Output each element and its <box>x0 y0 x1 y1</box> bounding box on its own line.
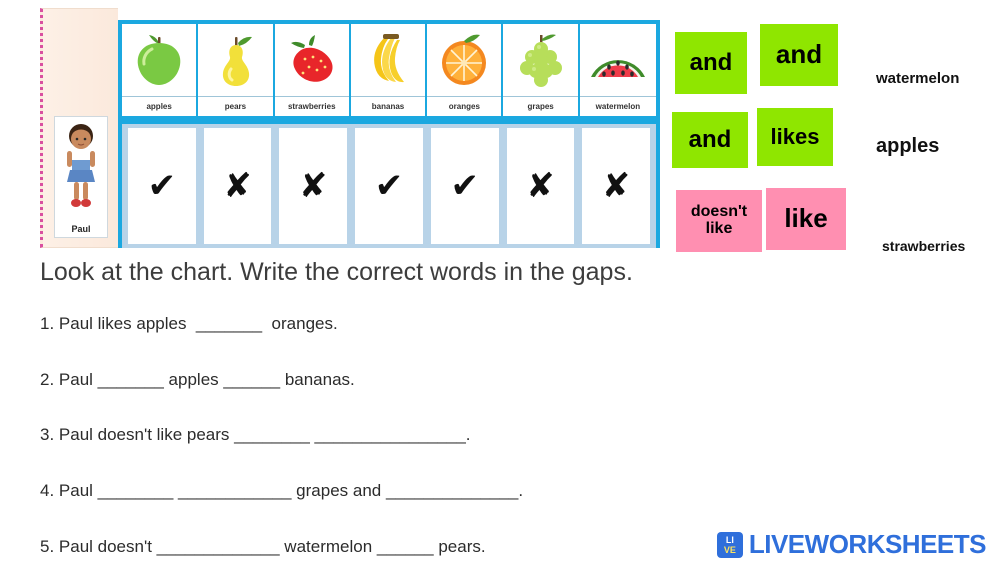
word-tile-and-1[interactable]: and <box>675 32 747 94</box>
word-tile-likes[interactable]: likes <box>757 108 833 166</box>
fruit-cell-pears: pears <box>198 24 274 116</box>
badge-top-text: LI <box>726 535 734 545</box>
fruit-cell-watermelon: watermelon <box>580 24 656 116</box>
word-tile-and-3[interactable]: and <box>672 112 748 168</box>
fruit-cell-apples: apples <box>122 24 198 116</box>
fruit-chart: Paul apples <box>40 8 660 248</box>
fruit-label: watermelon <box>580 96 656 116</box>
instruction-text: Look at the chart. Write the correct wor… <box>40 258 633 287</box>
fruit-cell-strawberries: strawberries <box>275 24 351 116</box>
apple-icon <box>122 24 196 96</box>
sentence-5: 5. Paul doesn't _____________ watermelon… <box>40 537 486 557</box>
fruit-label: strawberries <box>275 96 349 116</box>
word-tile-like[interactable]: like <box>766 188 846 250</box>
word-watermelon[interactable]: watermelon <box>876 70 959 87</box>
fruit-label: pears <box>198 96 272 116</box>
sentence-2: 2. Paul _______ apples ______ bananas. <box>40 370 355 390</box>
fruit-label: bananas <box>351 96 425 116</box>
liveworksheets-badge-icon: LI VE <box>717 532 743 558</box>
fruit-cell-grapes: grapes <box>503 24 579 116</box>
mark-cell-bananas: ✔ <box>355 128 423 244</box>
fruit-label: oranges <box>427 96 501 116</box>
mark-cell-strawberries: ✘ <box>279 128 347 244</box>
answer-row: ✔ ✘ ✘ ✔ ✔ ✘ ✘ <box>122 124 656 248</box>
banana-icon <box>351 24 425 96</box>
grapes-icon <box>503 24 577 96</box>
person-card-paul: Paul <box>54 116 108 238</box>
fruit-label: apples <box>122 96 196 116</box>
liveworksheets-brand-text: LIVEWORKSHEETS <box>749 529 986 560</box>
mark-cell-pears: ✘ <box>204 128 272 244</box>
person-avatar-icon <box>60 120 102 212</box>
sentence-4: 4. Paul ________ ____________ grapes and… <box>40 481 523 501</box>
person-name-label: Paul <box>71 224 90 234</box>
liveworksheets-logo[interactable]: LI VE LIVEWORKSHEETS <box>717 529 986 560</box>
fruit-table: apples pears <box>118 20 660 248</box>
badge-bottom-text: VE <box>724 545 736 555</box>
mark-cell-apples: ✔ <box>128 128 196 244</box>
fruit-cell-oranges: oranges <box>427 24 503 116</box>
fruit-label: grapes <box>503 96 577 116</box>
mark-cell-watermelon: ✘ <box>582 128 650 244</box>
word-tile-doesnt-like[interactable]: doesn't like <box>676 190 762 252</box>
mark-cell-oranges: ✔ <box>431 128 499 244</box>
strawberry-icon <box>275 24 349 96</box>
pear-icon <box>198 24 272 96</box>
orange-icon <box>427 24 501 96</box>
word-strawberries[interactable]: strawberries <box>882 238 965 254</box>
watermelon-icon <box>580 24 656 96</box>
fruit-cell-bananas: bananas <box>351 24 427 116</box>
sentence-1: 1. Paul likes apples _______ oranges. <box>40 314 338 334</box>
sentence-3: 3. Paul doesn't like pears ________ ____… <box>40 425 471 445</box>
word-tile-and-2[interactable]: and <box>760 24 838 86</box>
mark-cell-grapes: ✘ <box>507 128 575 244</box>
word-apples[interactable]: apples <box>876 135 939 158</box>
fruit-header-row: apples pears <box>122 24 656 116</box>
